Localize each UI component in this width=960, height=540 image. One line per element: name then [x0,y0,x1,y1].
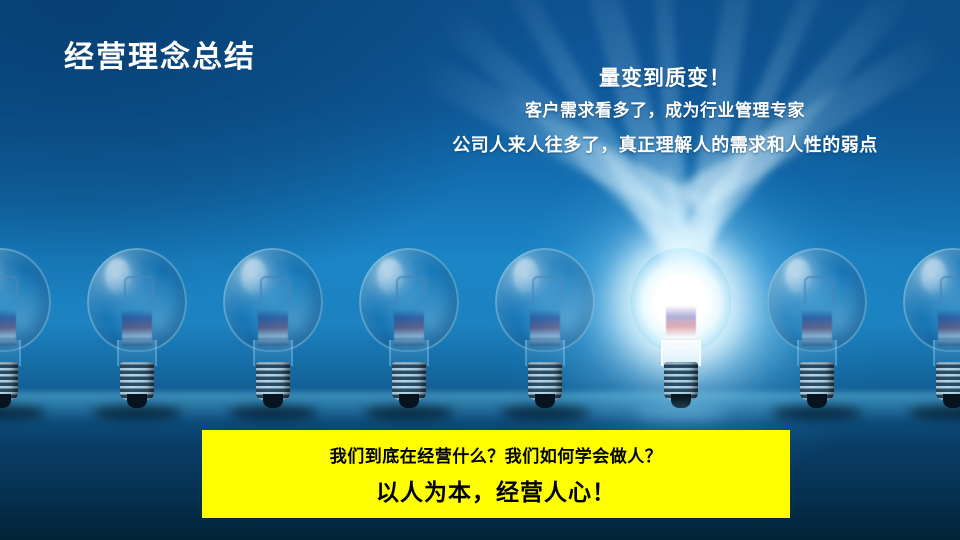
lightbulb [764,248,870,400]
bulb-shadow [772,406,862,420]
bulb-screw-base [392,362,426,400]
headline-line-3: 公司人来人往多了，真正理解人的需求和人性的弱点 [380,128,950,163]
bulb-shadow [0,406,46,420]
bulb-shadow [908,406,960,420]
lightbulb [0,248,54,400]
bulb-shadow [92,406,182,420]
bulb-filament [938,276,960,346]
lightbulb [356,248,462,400]
bulb-screw-base [528,362,562,400]
bulb-shadow [228,406,318,420]
bulb-screw-base [120,362,154,400]
callout-box: 我们到底在经营什么？我们如何学会做人？ 以人为本，经营人心！ [202,430,790,518]
lightbulb [492,248,598,400]
bulb-screw-base [0,362,18,400]
headline-main: 量变到质变！ [380,64,950,94]
bulb-screw-base [664,362,698,400]
bulb-screw-base [256,362,290,400]
headline-block: 量变到质变！ 客户需求看多了，成为行业管理专家 公司人来人往多了，真正理解人的需… [380,64,950,163]
bulb-screw-base [800,362,834,400]
headline-line-2: 客户需求看多了，成为行业管理专家 [380,94,950,127]
lightbulb [84,248,190,400]
bulb-shadow [636,406,726,420]
presentation-slide: 经营理念总结 量变到质变！ 客户需求看多了，成为行业管理专家 公司人来人往多了，… [0,0,960,540]
bulb-shadow [364,406,454,420]
bulb-filament [258,276,288,346]
bulb-shadow [500,406,590,420]
bulb-filament [0,276,16,346]
page-title: 经营理念总结 [64,32,256,76]
bulb-screw-base [936,362,960,400]
lightbulb [900,248,960,400]
callout-question: 我们到底在经营什么？我们如何学会做人？ [330,442,663,467]
callout-answer: 以人为本，经营人心！ [376,473,616,507]
bulb-filament [802,276,832,346]
bulb-filament [122,276,152,346]
bulb-filament [394,276,424,346]
lightbulb-lit [628,248,734,400]
bulb-filament [530,276,560,346]
lightbulb [220,248,326,400]
bulb-filament [666,276,696,346]
